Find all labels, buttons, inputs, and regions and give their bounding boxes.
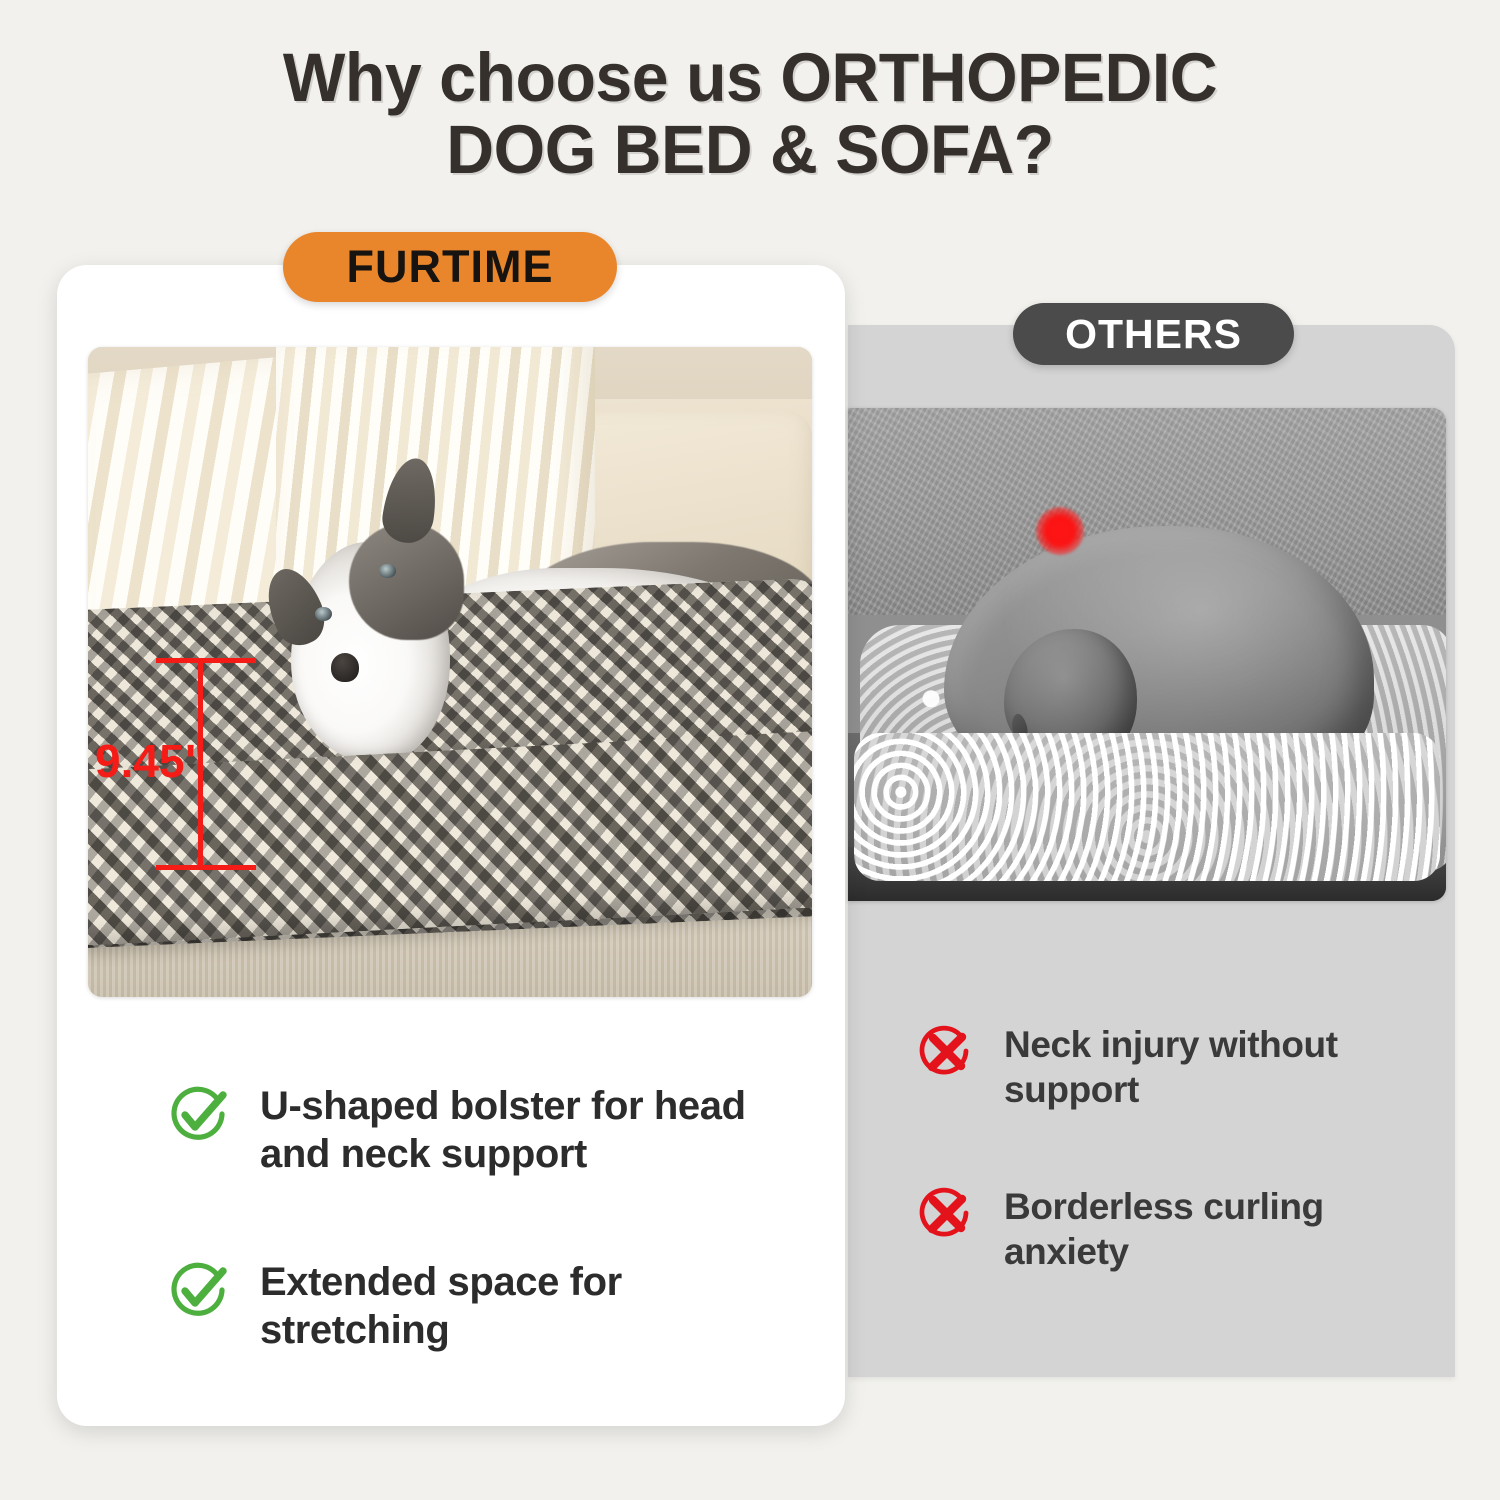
furtime-feature-text-1: U-shaped bolster for head and neck suppo… bbox=[260, 1082, 768, 1178]
furtime-feature-text-2: Extended space for stretching bbox=[260, 1258, 768, 1354]
red-x-circle-icon bbox=[918, 1024, 974, 1080]
furtime-feature-item-1: U-shaped bolster for head and neck suppo… bbox=[168, 1082, 768, 1178]
green-check-circle-icon bbox=[168, 1260, 230, 1322]
furtime-feature-item-2: Extended space for stretching bbox=[168, 1258, 768, 1354]
others-feature-list: Neck injury without support Borderless c… bbox=[918, 1022, 1398, 1346]
others-photo bbox=[848, 408, 1446, 901]
page-title-line-2: DOG BED & SOFA? bbox=[30, 114, 1470, 186]
furtime-photo-dog-nose bbox=[331, 653, 360, 683]
green-check-circle-icon bbox=[168, 1084, 230, 1146]
others-feature-text-2: Borderless curling anxiety bbox=[1004, 1184, 1398, 1274]
furtime-photo-dog-eye-right bbox=[379, 564, 396, 578]
others-feature-text-1: Neck injury without support bbox=[1004, 1022, 1398, 1112]
red-x-circle-icon bbox=[918, 1186, 974, 1242]
infographic-root: Why choose us ORTHOPEDIC DOG BED & SOFA? bbox=[0, 0, 1500, 1500]
page-title-line-1: Why choose us ORTHOPEDIC bbox=[30, 42, 1470, 114]
furtime-badge: FURTIME bbox=[283, 232, 617, 302]
others-feature-item-2: Borderless curling anxiety bbox=[918, 1184, 1398, 1274]
others-photo-bed-rim bbox=[854, 733, 1440, 881]
others-badge: OTHERS bbox=[1013, 303, 1294, 365]
others-feature-item-1: Neck injury without support bbox=[918, 1022, 1398, 1112]
furtime-photo bbox=[88, 347, 812, 997]
furtime-feature-list: U-shaped bolster for head and neck suppo… bbox=[168, 1082, 768, 1434]
red-pain-dot-icon bbox=[1036, 507, 1084, 555]
page-title: Why choose us ORTHOPEDIC DOG BED & SOFA? bbox=[30, 42, 1470, 186]
